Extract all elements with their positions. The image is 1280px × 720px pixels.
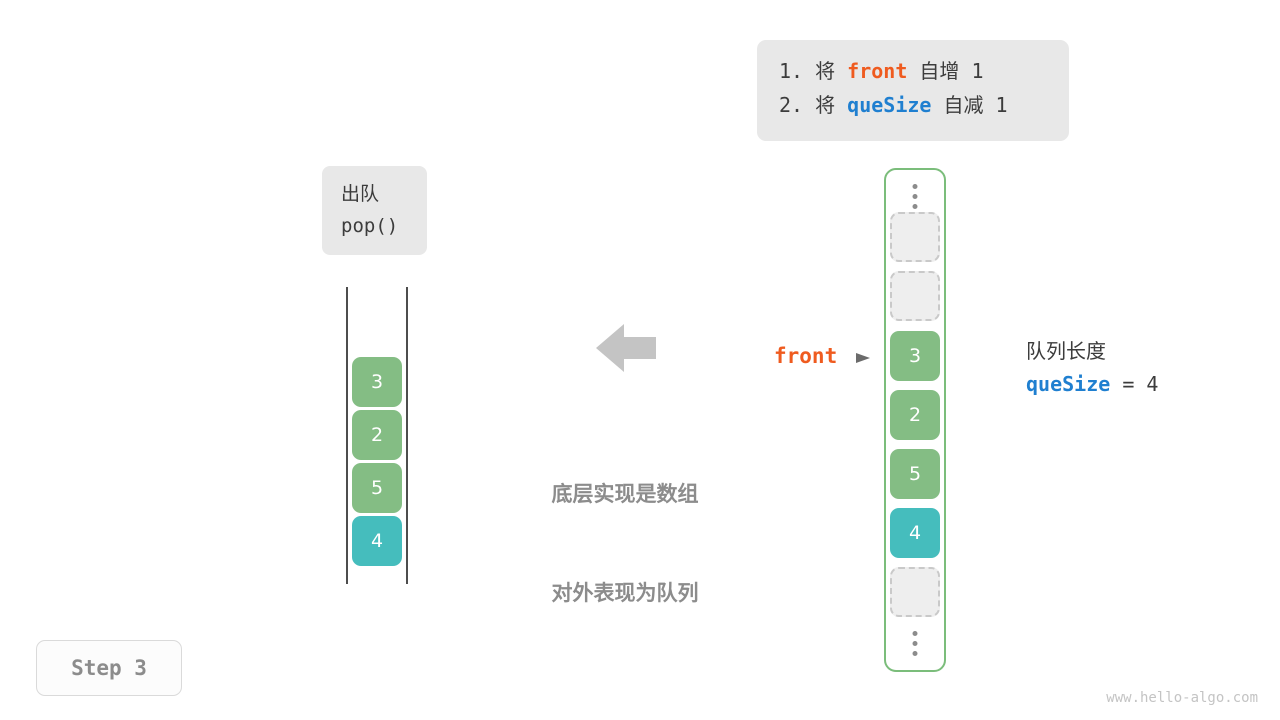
array-physical-view: 3 2 5 4 [884, 168, 946, 672]
queue-length-expression: queSize = 4 [1026, 367, 1158, 401]
watermark: www.hello-algo.com [1106, 690, 1258, 706]
instruction-line-2-keyword: queSize [847, 93, 931, 117]
operation-code: pop() [341, 210, 427, 242]
front-pointer-label: front [774, 344, 837, 368]
quesize-value: 4 [1146, 372, 1158, 396]
ellipsis-bottom-icon [913, 631, 918, 656]
instruction-line-1: 1. 将 front 自增 1 [779, 54, 1047, 88]
instruction-box: 1. 将 front 自增 1 2. 将 queSize 自减 1 [757, 40, 1069, 141]
instruction-line-2-prefix: 2. 将 [779, 93, 847, 117]
queue-wall-left [346, 287, 348, 584]
array-slot-empty [890, 567, 940, 617]
queue-length-title: 队列长度 [1026, 336, 1158, 367]
instruction-line-1-prefix: 1. 将 [779, 59, 847, 83]
array-slot-value: 5 [890, 449, 940, 499]
instruction-line-2-suffix: 自减 1 [931, 93, 1007, 117]
queue-cell: 4 [352, 516, 402, 566]
queue-logical-view: 3 2 5 4 [346, 287, 408, 584]
array-slot-value: 2 [890, 390, 940, 440]
queue-cell: 5 [352, 463, 402, 513]
left-arrow-icon [596, 322, 656, 374]
step-badge: Step 3 [36, 640, 182, 696]
array-slot-empty [890, 271, 940, 321]
queue-length-info: 队列长度 queSize = 4 [1026, 336, 1158, 401]
queue-wall-right [406, 287, 408, 584]
array-slot-empty [890, 212, 940, 262]
instruction-line-1-suffix: 自增 1 [907, 59, 983, 83]
center-caption: 底层实现是数组 对外表现为队列 [528, 412, 722, 643]
caption-line-2: 对外表现为队列 [528, 577, 722, 610]
array-slot-value: 4 [890, 508, 940, 558]
queue-cell: 3 [352, 357, 402, 407]
quesize-equals: = [1110, 372, 1146, 396]
array-slot-value: 3 [890, 331, 940, 381]
caption-line-1: 底层实现是数组 [528, 478, 722, 511]
queue-cell: 2 [352, 410, 402, 460]
ellipsis-top-icon [913, 184, 918, 209]
operation-label-box: 出队 pop() [322, 166, 427, 255]
front-pointer-arrow-icon [856, 350, 873, 364]
quesize-variable: queSize [1026, 372, 1110, 396]
instruction-line-1-keyword: front [847, 59, 907, 83]
instruction-line-2: 2. 将 queSize 自减 1 [779, 88, 1047, 122]
operation-title: 出队 [341, 178, 427, 210]
